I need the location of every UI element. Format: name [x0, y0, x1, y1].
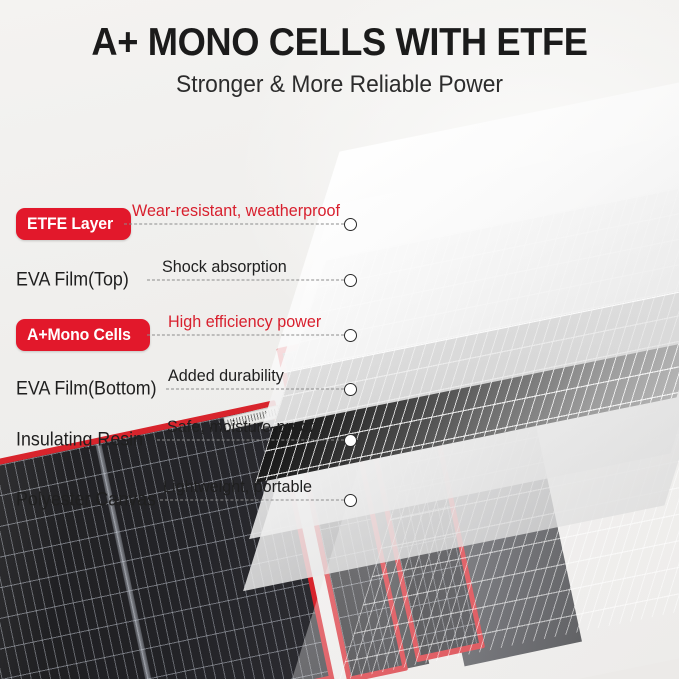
layer-name-text: EVA Film(Bottom) [16, 380, 157, 399]
layer-description-text: Added durability [168, 367, 284, 384]
layer-name-eva-film-top: EVA Film(Top) [16, 271, 136, 290]
leader-line-eva-film-top [147, 280, 344, 281]
layer-description-text: Safe, moisture-proof [167, 418, 313, 435]
layer-name-polyester-canvas: Polyester Canvas [16, 491, 165, 510]
infographic-poster: A+ MONO CELLS WITH ETFE Stronger & More … [0, 0, 679, 679]
layer-description-text: High efficiency power [168, 313, 321, 330]
layer-description-etfe-layer: Wear-resistant, weatherproof [132, 202, 351, 224]
layer-description-eva-film-bottom: Added durability [168, 367, 290, 389]
leader-dot-aplus-mono-cells [344, 329, 357, 342]
leader-dot-eva-film-top [344, 274, 357, 287]
layer-name-text: ETFE Layer [27, 215, 113, 232]
layer-description-insulating-resin: Safe, moisture-proof [167, 418, 321, 440]
layer-name-text: EVA Film(Top) [16, 271, 129, 290]
leader-line-polyester-canvas [160, 500, 344, 501]
leader-line-etfe-layer [124, 224, 344, 225]
layer-name-eva-film-bottom: EVA Film(Bottom) [16, 380, 166, 399]
leader-dot-insulating-resin [344, 434, 357, 447]
layer-name-etfe-layer: ETFE Layer [16, 208, 131, 240]
leader-dot-polyester-canvas [344, 494, 357, 507]
leader-line-eva-film-bottom [166, 389, 344, 390]
layer-description-text: Lightweight, portable [163, 478, 312, 495]
leader-line-aplus-mono-cells [147, 335, 344, 336]
layer-name-insulating-resin: Insulating Resin [16, 431, 151, 450]
leader-line-insulating-resin [157, 440, 344, 441]
leader-dot-eva-film-bottom [344, 383, 357, 396]
layer-name-text: Insulating Resin [16, 431, 143, 450]
layer-name-text: A+Mono Cells [27, 326, 131, 343]
layer-name-aplus-mono-cells: A+Mono Cells [16, 319, 150, 351]
callout-list: ETFE LayerWear-resistant, weatherproofEV… [0, 0, 679, 679]
layer-name-text: Polyester Canvas [16, 491, 156, 510]
layer-description-aplus-mono-cells: High efficiency power [168, 313, 329, 335]
layer-description-eva-film-top: Shock absorption [162, 258, 293, 280]
layer-description-text: Shock absorption [162, 258, 287, 275]
leader-dot-etfe-layer [344, 218, 357, 231]
layer-description-polyester-canvas: Lightweight, portable [163, 478, 320, 500]
layer-description-text: Wear-resistant, weatherproof [132, 202, 340, 219]
